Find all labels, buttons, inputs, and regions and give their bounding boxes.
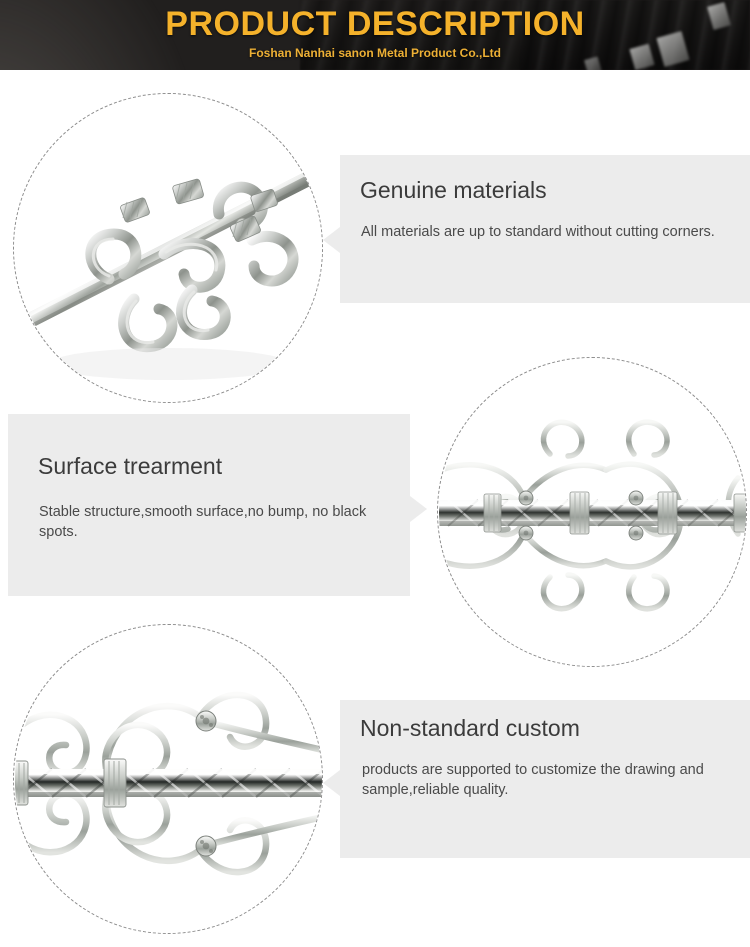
scrollwork-panel-illustration (438, 358, 747, 667)
feature-panel-non-standard-custom: Non-standard custom products are support… (340, 700, 750, 858)
feature-panel-surface-treatment: Surface trearment Stable structure,smoot… (8, 414, 410, 596)
feature-panel-genuine-materials: Genuine materials All materials are up t… (340, 155, 750, 303)
panel-pointer-right-icon (410, 496, 427, 522)
page-header-banner: PRODUCT DESCRIPTION Foshan Nanhai sanon … (0, 0, 750, 70)
panel-pointer-left-icon (323, 770, 340, 796)
genuine-materials-photo (13, 93, 323, 403)
feature-body: products are supported to customize the … (362, 760, 717, 800)
feature-title: Surface trearment (38, 452, 222, 480)
feature-title: Genuine materials (360, 176, 547, 204)
panel-pointer-left-icon (323, 227, 340, 253)
company-name: Foshan Nanhai sanon Metal Product Co.,Lt… (0, 46, 750, 61)
page-title: PRODUCT DESCRIPTION (0, 5, 750, 43)
feature-body: Stable structure,smooth surface,no bump,… (39, 502, 389, 542)
non-standard-custom-photo (13, 624, 323, 934)
feature-body: All materials are up to standard without… (361, 222, 721, 242)
steel-scroll-ornament-illustration (14, 94, 323, 403)
scrollwork-closeup-illustration (14, 625, 323, 934)
surface-treatment-photo (437, 357, 747, 667)
feature-title: Non-standard custom (360, 714, 580, 742)
